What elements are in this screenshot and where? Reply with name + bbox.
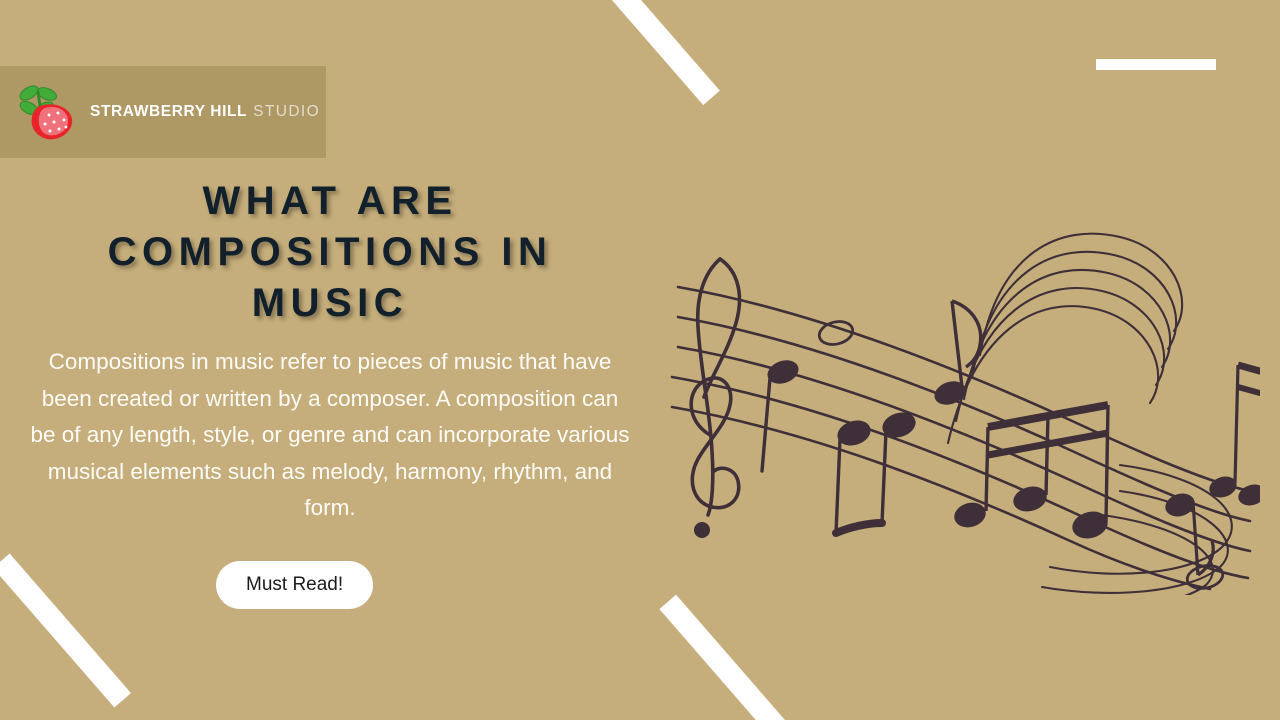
sheet-music-illustration <box>650 215 1260 595</box>
decor-stripe-top-right-dash <box>1096 59 1216 70</box>
page-title: WHAT ARE COMPOSITIONS IN MUSIC <box>0 176 660 328</box>
logo-sub-text: STUDIO <box>253 103 320 121</box>
logo-banner: STRAWBERRY HILL STUDIO <box>0 66 326 158</box>
strawberry-icon <box>14 82 78 142</box>
logo-wordmark: STRAWBERRY HILL STUDIO <box>90 103 320 121</box>
must-read-button[interactable]: Must Read! <box>216 561 373 609</box>
cta-container: Must Read! <box>0 561 660 609</box>
decor-stripe-bottom-right-diagonal <box>659 595 846 720</box>
body-paragraph: Compositions in music refer to pieces of… <box>0 344 660 526</box>
logo-brand-text: STRAWBERRY HILL <box>90 103 247 121</box>
decor-stripe-top-diagonal <box>606 0 720 105</box>
content-column: WHAT ARE COMPOSITIONS IN MUSIC Compositi… <box>0 176 660 609</box>
